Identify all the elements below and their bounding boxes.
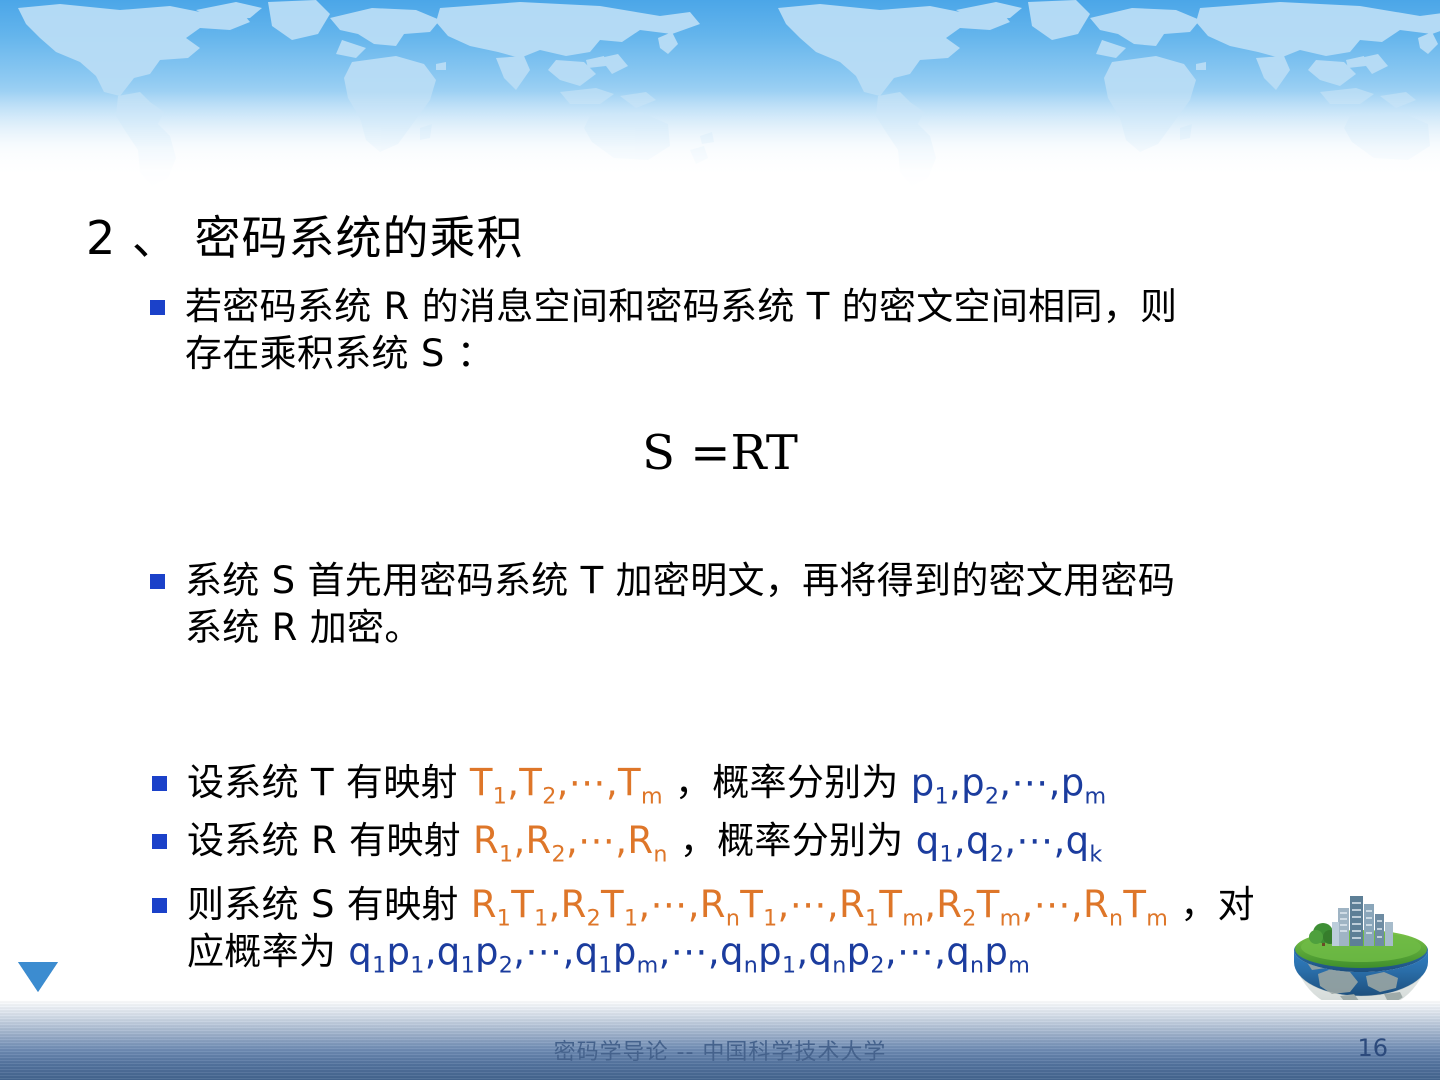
bullet-2-line-2: 系统 R 加密。	[185, 606, 422, 649]
bullet-item-5-text: 则系统 S 有映射 R1T1,R2T1,⋯,RnT1,⋯,R1Tm,R2Tm,⋯…	[187, 882, 1255, 975]
bullet-square-icon	[152, 898, 167, 913]
triangle-down-icon[interactable]	[18, 962, 58, 992]
bullet-5-line-2-prefix: 应概率为	[187, 930, 348, 973]
bullet-4-mapping-list: R1,R2,⋯,Rn	[473, 819, 668, 862]
bullet-5-probability-list: q1p1,q1p2,⋯,q1pm,⋯,qnp1,qnp2,⋯,qnpm	[348, 930, 1030, 973]
page-number: 16	[1357, 1034, 1388, 1062]
bullet-item-2: 系统 S 首先用密码系统 T 加密明文，再将得到的密文用密码 系统 R 加密。	[150, 558, 1385, 651]
bullet-item-4-text: 设系统 R 有映射 R1,R2,⋯,Rn ，概率分别为 q1,q2,⋯,qk	[187, 818, 1103, 865]
bullet-3-mapping-list: T1,T2,⋯,Tm	[470, 761, 663, 804]
bullet-5-prefix: 则系统 S 有映射	[187, 883, 471, 926]
bullet-item-3-text: 设系统 T 有映射 T1,T2,⋯,Tm ，概率分别为 p1,p2,⋯,pm	[187, 760, 1106, 807]
bullet-square-icon	[152, 834, 167, 849]
bullet-1-line-1: 若密码系统 R 的消息空间和密码系统 T 的密文空间相同，则	[185, 285, 1177, 328]
bullet-3-probability-list: p1,p2,⋯,pm	[911, 761, 1107, 804]
bullet-square-icon	[150, 574, 165, 589]
footer-label: 密码学导论 -- 中国科学技术大学	[0, 1034, 1440, 1066]
bullet-4-prefix: 设系统 R 有映射	[187, 819, 473, 862]
bullet-item-2-text: 系统 S 首先用密码系统 T 加密明文，再将得到的密文用密码 系统 R 加密。	[185, 558, 1175, 651]
bullet-1-line-2: 存在乘积系统 S ：	[185, 332, 494, 375]
page-title: 2 、 密码系统的乘积	[86, 212, 524, 265]
bullet-5-mapping-list: R1T1,R2T1,⋯,RnT1,⋯,R1Tm,R2Tm,⋯,RnTm	[471, 883, 1168, 926]
bullet-item-1: 若密码系统 R 的消息空间和密码系统 T 的密文空间相同，则 存在乘积系统 S …	[150, 284, 1380, 377]
bullet-item-5: 则系统 S 有映射 R1T1,R2T1,⋯,RnT1,⋯,R1Tm,R2Tm,⋯…	[152, 882, 1412, 975]
bullet-2-line-1: 系统 S 首先用密码系统 T 加密明文，再将得到的密文用密码	[185, 559, 1175, 602]
bullet-item-3: 设系统 T 有映射 T1,T2,⋯,Tm ，概率分别为 p1,p2,⋯,pm	[152, 760, 1402, 807]
bullet-4-probability-list: q1,q2,⋯,qk	[916, 819, 1103, 862]
bullet-item-1-text: 若密码系统 R 的消息空间和密码系统 T 的密文空间相同，则 存在乘积系统 S …	[185, 284, 1177, 377]
bullet-3-prefix: 设系统 T 有映射	[187, 761, 470, 804]
bullet-3-middle: ，概率分别为	[663, 761, 911, 804]
formula-s-equals-rt: S =RT	[0, 425, 1440, 481]
bullet-square-icon	[150, 300, 165, 315]
bullet-4-middle: ，概率分别为	[668, 819, 916, 862]
slide-content: 2 、 密码系统的乘积 若密码系统 R 的消息空间和密码系统 T 的密文空间相同…	[0, 0, 1440, 1080]
bullet-square-icon	[152, 776, 167, 791]
bullet-5-middle: ，对	[1168, 883, 1255, 926]
slide-canvas: 2 、 密码系统的乘积 若密码系统 R 的消息空间和密码系统 T 的密文空间相同…	[0, 0, 1440, 1080]
bullet-item-4: 设系统 R 有映射 R1,R2,⋯,Rn ，概率分别为 q1,q2,⋯,qk	[152, 818, 1402, 865]
